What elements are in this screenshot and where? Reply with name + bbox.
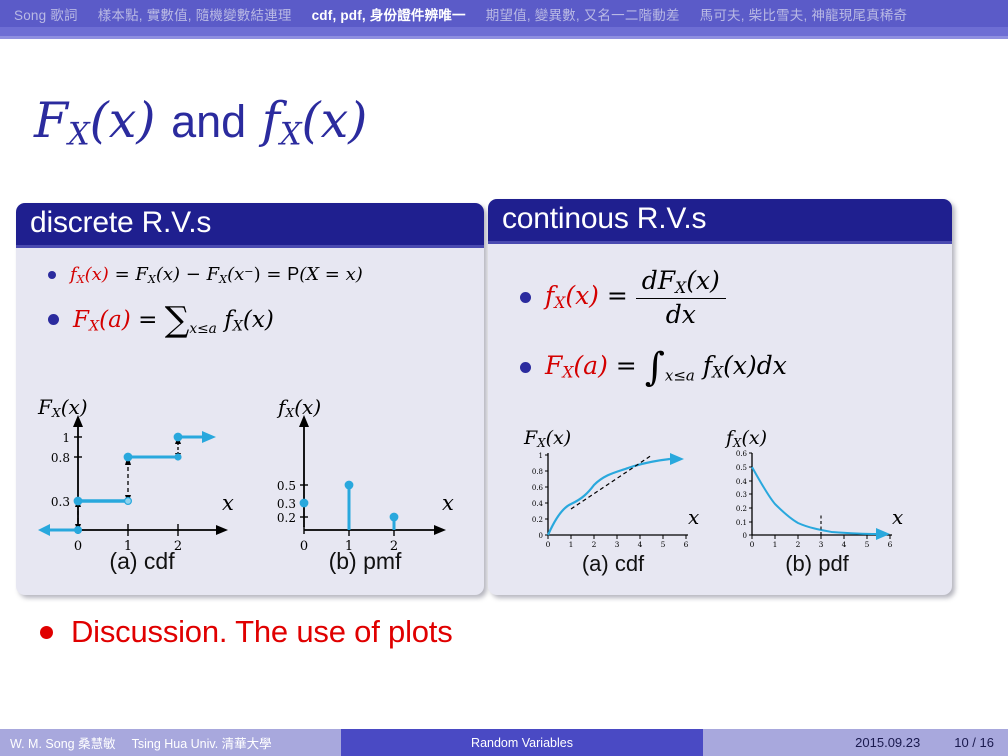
nav-item-sample-points[interactable]: 樣本點, 實數值, 隨機變數結連理 bbox=[98, 4, 292, 24]
svg-text:0: 0 bbox=[743, 532, 747, 540]
svg-text:1: 1 bbox=[773, 540, 778, 549]
probability-arg: (X = x) bbox=[299, 264, 363, 285]
formula-pdf-derivative: fX(x) = dFX(x) dx bbox=[545, 266, 726, 329]
cdf-F2-sub: X bbox=[219, 273, 227, 286]
nav-item-cdf-pdf[interactable]: cdf, pdf, 身份證件辨唯一 bbox=[312, 4, 466, 24]
bullet-discrete-cdf-sum: FX(a) = ∑x≤a fX(x) bbox=[16, 300, 484, 340]
svg-text:0.6: 0.6 bbox=[736, 450, 748, 458]
cdf-F-sub: X bbox=[89, 318, 99, 334]
eq-sign: = bbox=[138, 307, 157, 333]
summation-limit: x≤a bbox=[189, 321, 217, 337]
footer-section-title: Random Variables bbox=[341, 729, 703, 756]
chart-continuous-pdf: fX(x) x bbox=[714, 427, 920, 577]
title-F: F bbox=[34, 92, 68, 149]
chart-continuous-cdf-xlabel: x bbox=[688, 505, 699, 529]
minus-sign: − bbox=[186, 264, 201, 285]
pmf-f: f bbox=[224, 307, 233, 333]
ytick-0.2: 0.2 bbox=[277, 511, 296, 525]
title-f: f bbox=[262, 92, 280, 149]
chart-continuous-pdf-ylabel: fX(x) bbox=[726, 427, 767, 450]
footer-author: W. M. Song 桑慧敏 bbox=[10, 733, 116, 752]
svg-text:4: 4 bbox=[638, 540, 643, 549]
chart-discrete-cdf-ylabel: FX(x) bbox=[38, 395, 88, 420]
footer-author-block: W. M. Song 桑慧敏 Tsing Hua Univ. 清華大學 bbox=[0, 729, 341, 756]
probability-P: P bbox=[287, 264, 299, 284]
title-F-subscript: X bbox=[68, 118, 90, 153]
discussion-bullet: Discussion. The use of plots bbox=[40, 614, 453, 650]
pmf-f-arg: (x) bbox=[243, 307, 274, 333]
summation-icon: ∑ bbox=[165, 300, 190, 340]
footer-page-number: 10 / 16 bbox=[954, 735, 994, 750]
svg-text:2: 2 bbox=[592, 540, 597, 549]
chart-continuous-pdf-caption: (b) pdf bbox=[714, 551, 920, 577]
page-title: FX(x) and fX(x) bbox=[34, 96, 367, 151]
bullet-discrete-pmf-definition: fX(x) = FX(x) − FX(x−) = P(X = x) bbox=[16, 264, 484, 286]
panel-discrete-rvs: discrete R.V.s fX(x) = FX(x) − FX(x−) = … bbox=[16, 203, 484, 595]
derivative-fraction: dFX(x) dx bbox=[636, 266, 726, 329]
cdf-F2-superscript: − bbox=[244, 265, 253, 278]
cdf-F: F bbox=[545, 351, 562, 380]
pdf-f-arg: (x) bbox=[565, 281, 599, 310]
xtick-1: 1 bbox=[345, 539, 353, 550]
nav-item-song[interactable]: Song 歌詞 bbox=[14, 4, 78, 24]
bullet-dot-icon bbox=[520, 292, 531, 303]
svg-text:0: 0 bbox=[750, 540, 755, 549]
footer-meta-block: 2015.09.23 10 / 16 bbox=[703, 729, 1008, 756]
svg-text:2: 2 bbox=[796, 540, 801, 549]
chart-discrete-cdf-caption: (a) cdf bbox=[30, 548, 254, 575]
differential-dx: dx bbox=[757, 351, 787, 380]
pmf-f-sub: X bbox=[233, 318, 243, 334]
svg-text:4: 4 bbox=[842, 540, 847, 549]
panel-continuous-bullets: fX(x) = dFX(x) dx FX(a) = ∫x≤a fX(x)dx bbox=[488, 244, 952, 390]
cdf-F2-arg-close: ) bbox=[254, 264, 261, 285]
svg-text:0.4: 0.4 bbox=[736, 478, 748, 486]
pmf-f-arg: (x) bbox=[85, 264, 109, 285]
cdf-F2-arg-open: (x bbox=[227, 264, 244, 285]
svg-text:5: 5 bbox=[661, 540, 666, 549]
svg-text:0.6: 0.6 bbox=[532, 484, 544, 492]
svg-text:6: 6 bbox=[888, 540, 893, 549]
chart-discrete-pmf-caption: (b) pmf bbox=[256, 548, 474, 575]
chart-discrete-pmf-ylabel: fX(x) bbox=[278, 395, 321, 420]
panel-continuous-heading: continous R.V.s bbox=[488, 199, 952, 244]
cdf-F-arg: (a) bbox=[99, 307, 131, 333]
bullet-continuous-cdf-integral: FX(a) = ∫x≤a fX(x)dx bbox=[488, 345, 952, 390]
panel-discrete-heading: discrete R.V.s bbox=[16, 203, 484, 248]
eq-sign: = bbox=[607, 281, 628, 310]
bullet-dot-icon bbox=[48, 314, 59, 325]
chart-discrete-cdf-xlabel: x bbox=[222, 491, 234, 515]
xtick-1: 1 bbox=[124, 539, 132, 550]
nav-separator-band-light bbox=[0, 36, 1008, 39]
ytick-0.5: 0.5 bbox=[277, 479, 296, 493]
pdf-f: f bbox=[703, 351, 712, 380]
nav-item-expectation[interactable]: 期望值, 變異數, 又名一二階動差 bbox=[486, 4, 680, 24]
fraction-denominator: dx bbox=[636, 300, 726, 329]
svg-text:0.3: 0.3 bbox=[736, 491, 747, 499]
chart-discrete-pmf: fX(x) x bbox=[256, 395, 474, 575]
chart-continuous-cdf-ylabel: FX(x) bbox=[524, 427, 571, 450]
cdf-F1-sub: X bbox=[148, 273, 156, 286]
svg-text:5: 5 bbox=[865, 540, 870, 549]
formula-cdf-sum: FX(a) = ∑x≤a fX(x) bbox=[73, 300, 274, 340]
svg-text:0.1: 0.1 bbox=[736, 519, 747, 527]
pdf-f-sub: X bbox=[712, 364, 723, 382]
chart-discrete-cdf: FX(x) x bbox=[30, 395, 254, 575]
xtick-2: 2 bbox=[390, 539, 398, 550]
svg-text:0.8: 0.8 bbox=[532, 468, 543, 476]
bullet-continuous-pdf-derivative: fX(x) = dFX(x) dx bbox=[488, 266, 952, 329]
formula-pmf-definition: fX(x) = FX(x) − FX(x−) = P(X = x) bbox=[70, 264, 363, 286]
fraction-numerator: dFX(x) bbox=[636, 266, 726, 297]
cdf-F-sub: X bbox=[562, 364, 573, 382]
svg-text:0.2: 0.2 bbox=[736, 505, 747, 513]
eq-sign-2: = bbox=[266, 264, 281, 285]
cdf-F1-arg: (x) bbox=[156, 264, 180, 285]
fraction-bar bbox=[636, 298, 726, 299]
bullet-dot-icon bbox=[40, 626, 53, 639]
top-navigation-bar: Song 歌詞 樣本點, 實數值, 隨機變數結連理 cdf, pdf, 身份證件… bbox=[0, 0, 1008, 27]
panel-discrete-bullets: fX(x) = FX(x) − FX(x−) = P(X = x) FX(a) … bbox=[16, 248, 484, 340]
pmf-f-sub: X bbox=[77, 273, 85, 286]
pdf-f-arg: (x) bbox=[723, 351, 757, 380]
footer-affiliation: Tsing Hua Univ. 清華大學 bbox=[132, 733, 272, 752]
nav-separator-band bbox=[0, 27, 1008, 36]
svg-text:0: 0 bbox=[546, 540, 551, 549]
title-f-arg: (x) bbox=[302, 92, 368, 149]
xtick-0: 0 bbox=[300, 539, 308, 550]
pdf-f-sub: X bbox=[554, 294, 565, 312]
integral-limit: x≤a bbox=[665, 366, 695, 384]
integral-icon: ∫ bbox=[645, 345, 665, 390]
cdf-F1: F bbox=[135, 264, 148, 285]
discussion-text: Discussion. The use of plots bbox=[71, 614, 453, 650]
title-F-arg: (x) bbox=[90, 92, 156, 149]
svg-text:0.5: 0.5 bbox=[736, 464, 747, 472]
ytick-0.3: 0.3 bbox=[51, 495, 70, 509]
chart-continuous-cdf-caption: (a) cdf bbox=[510, 551, 716, 577]
svg-text:6: 6 bbox=[684, 540, 689, 549]
cdf-F-arg: (a) bbox=[573, 351, 607, 380]
footer-bar: W. M. Song 桑慧敏 Tsing Hua Univ. 清華大學 Rand… bbox=[0, 729, 1008, 756]
svg-text:0.4: 0.4 bbox=[532, 500, 544, 508]
title-and: and bbox=[171, 96, 246, 147]
svg-text:3: 3 bbox=[615, 540, 620, 549]
formula-cdf-integral: FX(a) = ∫x≤a fX(x)dx bbox=[545, 345, 787, 390]
ytick-0.8: 0.8 bbox=[51, 451, 70, 465]
eq-sign: = bbox=[616, 351, 637, 380]
ytick-0.3: 0.3 bbox=[277, 497, 296, 511]
cdf-F: F bbox=[73, 307, 89, 333]
pdf-f: f bbox=[545, 281, 554, 310]
title-f-subscript: X bbox=[280, 118, 302, 153]
eq-sign-1: = bbox=[115, 264, 130, 285]
svg-text:1: 1 bbox=[539, 452, 543, 460]
chart-continuous-pdf-xlabel: x bbox=[892, 505, 903, 529]
cdf-F2: F bbox=[207, 264, 220, 285]
svg-text:1: 1 bbox=[569, 540, 574, 549]
footer-date: 2015.09.23 bbox=[855, 735, 920, 750]
xtick-0: 0 bbox=[74, 539, 82, 550]
panel-continuous-rvs: continous R.V.s fX(x) = dFX(x) dx FX(a) … bbox=[488, 199, 952, 595]
svg-text:3: 3 bbox=[819, 540, 824, 549]
chart-discrete-pmf-xlabel: x bbox=[442, 491, 454, 515]
xtick-2: 2 bbox=[174, 539, 182, 550]
nav-item-markov[interactable]: 馬可夫, 柴比雪夫, 神龍現尾真稀奇 bbox=[700, 4, 908, 24]
chart-continuous-cdf: FX(x) x bbox=[510, 427, 716, 577]
ytick-1: 1 bbox=[62, 431, 70, 445]
svg-text:0: 0 bbox=[539, 532, 543, 540]
svg-text:0.2: 0.2 bbox=[532, 516, 543, 524]
nav-items: Song 歌詞 樣本點, 實數值, 隨機變數結連理 cdf, pdf, 身份證件… bbox=[0, 0, 1008, 27]
bullet-dot-icon bbox=[520, 362, 531, 373]
bullet-dot-icon bbox=[48, 271, 56, 279]
pmf-f: f bbox=[70, 264, 77, 285]
